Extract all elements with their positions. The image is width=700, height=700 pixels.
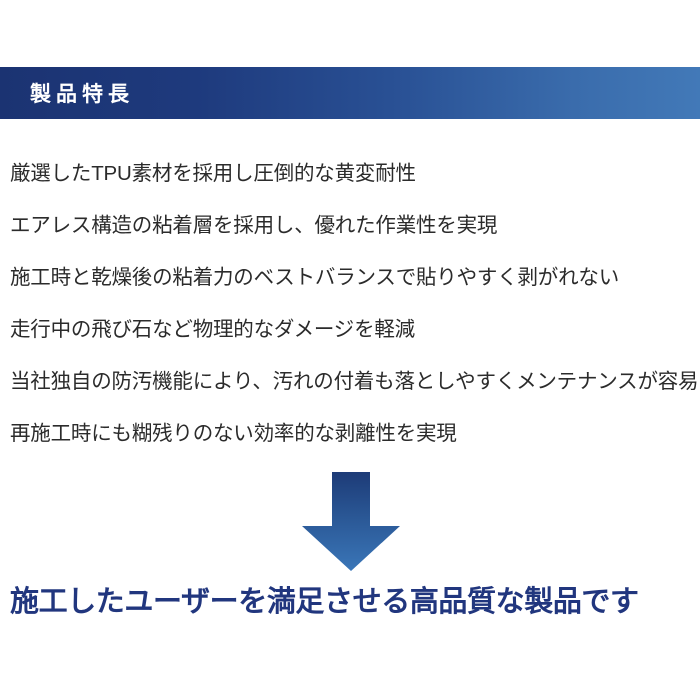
feature-item: 厳選したTPU素材を採用し圧倒的な黄変耐性	[10, 148, 700, 200]
feature-item: 施工時と乾燥後の粘着力のベストバランスで貼りやすく剥がれない	[10, 252, 700, 304]
feature-item: 走行中の飛び石など物理的なダメージを軽減	[10, 304, 700, 356]
product-features-panel: 製品特長 厳選したTPU素材を採用し圧倒的な黄変耐性 エアレス構造の粘着層を採用…	[0, 0, 700, 700]
conclusion-headline: 施工したユーザーを満足させる高品質な製品です	[10, 582, 700, 622]
section-header-bar: 製品特長	[0, 67, 700, 119]
feature-item: エアレス構造の粘着層を採用し、優れた作業性を実現	[10, 200, 700, 252]
feature-item: 当社独自の防汚機能により、汚れの付着も落としやすくメンテナンスが容易	[10, 356, 700, 408]
down-arrow-icon	[302, 472, 400, 571]
feature-list: 厳選したTPU素材を採用し圧倒的な黄変耐性 エアレス構造の粘着層を採用し、優れた…	[10, 148, 700, 460]
feature-item: 再施工時にも糊残りのない効率的な剥離性を実現	[10, 408, 700, 460]
section-header-title: 製品特長	[30, 78, 134, 108]
